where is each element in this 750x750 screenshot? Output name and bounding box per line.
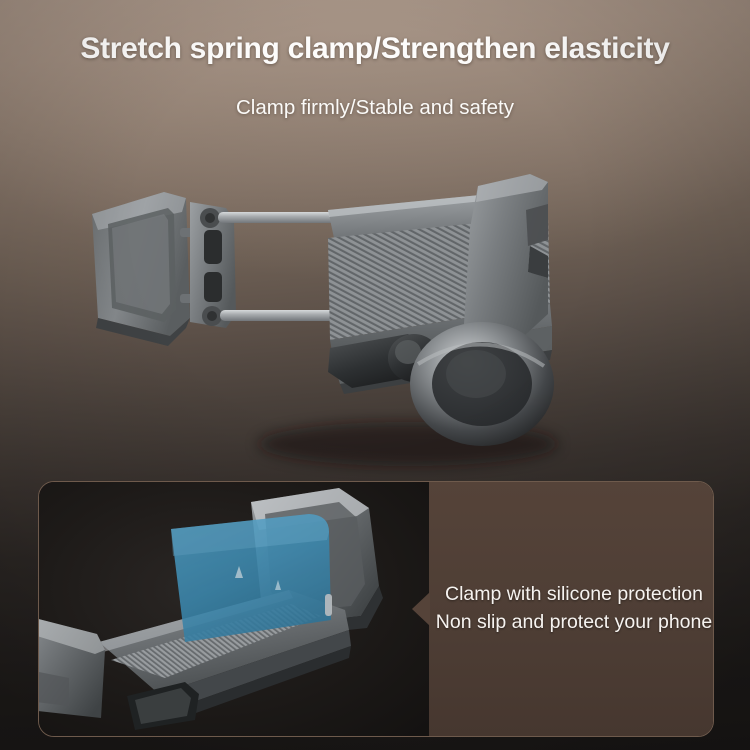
feature-panel-photo: [39, 482, 429, 736]
panel-left-jaw: [39, 612, 105, 718]
callout-notch: [412, 592, 430, 626]
panel-tab-right: [325, 594, 332, 616]
left-clamp-jaw: [92, 192, 200, 346]
feature-panel-text: Clamp with silicone protection Non slip …: [429, 482, 713, 736]
hero-product-image: [78, 168, 674, 468]
silicone-pad-highlight: [171, 514, 331, 642]
feature-panel: Clamp with silicone protection Non slip …: [38, 481, 714, 737]
feature-line-2: Non slip and protect your phone: [436, 609, 712, 637]
page-subtitle: Clamp firmly/Stable and safety: [0, 96, 750, 120]
page-title: Stretch spring clamp/Strengthen elastici…: [0, 32, 750, 66]
product-feature-banner: Stretch spring clamp/Strengthen elastici…: [0, 0, 750, 750]
feature-line-1: Clamp with silicone protection: [445, 581, 703, 609]
